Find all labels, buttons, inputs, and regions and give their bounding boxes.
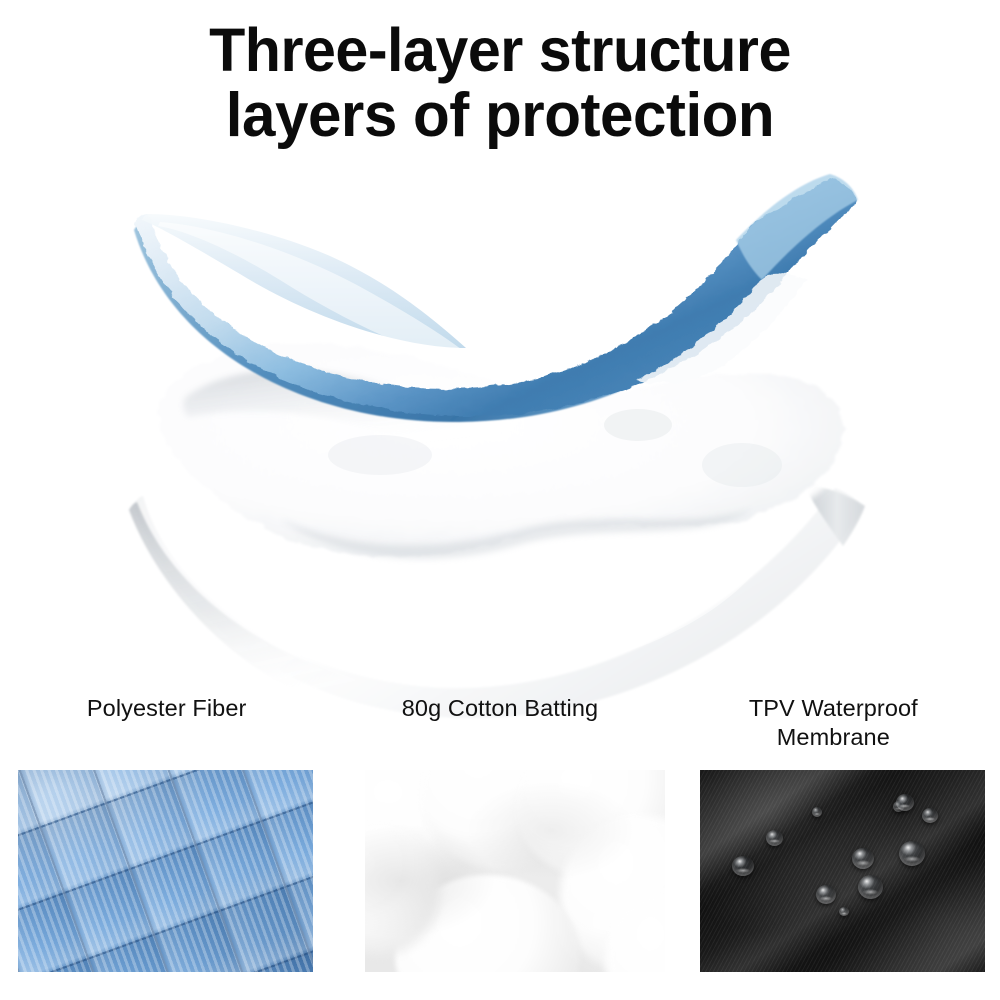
water-droplet xyxy=(852,848,874,869)
title-line-1: Three-layer structure xyxy=(15,18,985,83)
water-droplet xyxy=(922,808,938,823)
quilt-stitch-dashes xyxy=(18,770,313,972)
infographic-page: Three-layer structure layers of protecti… xyxy=(0,0,1000,1000)
layer-illustration xyxy=(0,170,1000,685)
swatch-captions: Polyester Fiber 80g Cotton Batting TPV W… xyxy=(0,694,1000,766)
caption-line-1: Polyester Fiber xyxy=(0,694,333,723)
water-droplet xyxy=(896,794,914,811)
quilted-fabric-image xyxy=(18,770,313,972)
swatch-cotton-batting xyxy=(365,770,665,972)
page-title: Three-layer structure layers of protecti… xyxy=(0,18,1000,148)
water-droplet xyxy=(812,807,822,817)
caption-tpv-membrane: TPV Waterproof Membrane xyxy=(667,694,1000,766)
caption-line-2: Membrane xyxy=(667,723,1000,752)
caption-line-1: 80g Cotton Batting xyxy=(333,694,666,723)
cotton-shading xyxy=(365,770,665,972)
caption-cotton-batting: 80g Cotton Batting xyxy=(333,694,666,766)
swatch-tpv-membrane xyxy=(700,770,985,972)
water-droplet xyxy=(766,830,783,846)
title-line-2: layers of protection xyxy=(15,83,985,149)
water-droplet xyxy=(732,856,754,876)
swatch-polyester-fiber xyxy=(18,770,313,972)
caption-polyester-fiber: Polyester Fiber xyxy=(0,694,333,766)
cotton-balls-image xyxy=(365,770,665,972)
waterproof-twill-image xyxy=(700,770,985,972)
water-droplet xyxy=(839,907,849,916)
water-droplet xyxy=(858,875,883,899)
water-droplet xyxy=(816,885,836,904)
material-swatches xyxy=(0,770,1000,972)
polyester-fiber-layer-illustration xyxy=(130,170,870,430)
water-droplet xyxy=(899,841,925,866)
caption-line-1: TPV Waterproof xyxy=(667,694,1000,723)
